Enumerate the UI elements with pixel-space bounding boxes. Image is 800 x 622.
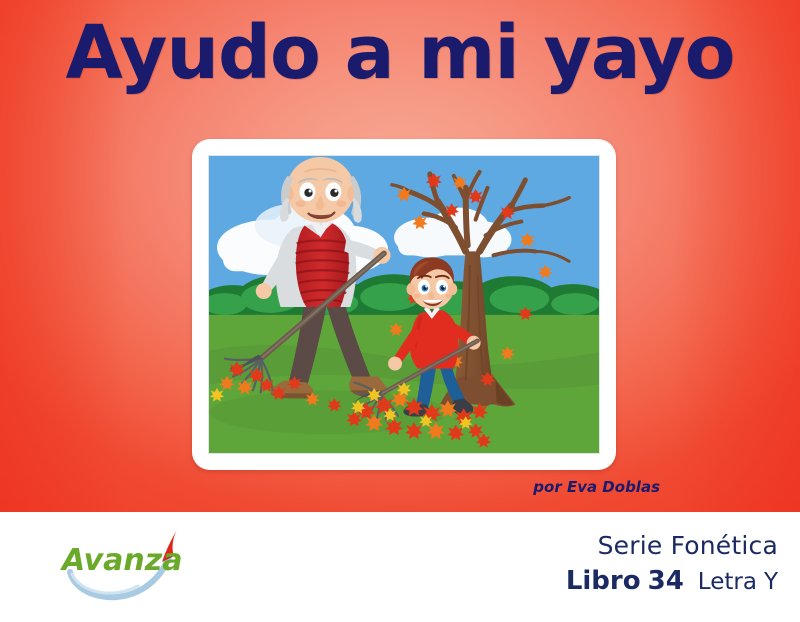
- author-credit: por Eva Doblas: [533, 478, 660, 496]
- illustration-svg: [209, 156, 599, 453]
- avanza-logo-svg: Avanza: [58, 526, 228, 604]
- letter-value: Y: [764, 569, 778, 595]
- page-title: Ayudo a mi yayo: [0, 16, 800, 90]
- series-label: Serie Fonética: [566, 530, 778, 562]
- avanza-wordmark: Avanza: [60, 543, 182, 578]
- book-number: 34: [648, 566, 684, 596]
- cover-illustration: [208, 155, 600, 454]
- letter-label: Letra: [698, 569, 757, 595]
- book-label: Libro: [566, 566, 641, 596]
- book-line: Libro34LetraY: [566, 565, 778, 598]
- book-cover: Ayudo a mi yayo: [0, 0, 800, 622]
- cover-illustration-frame: [192, 139, 616, 470]
- series-info: Serie Fonética Libro34LetraY: [566, 530, 778, 597]
- avanza-logo[interactable]: Avanza: [58, 526, 228, 604]
- footer-bar: Avanza Serie Fonética Libro34LetraY: [0, 512, 800, 622]
